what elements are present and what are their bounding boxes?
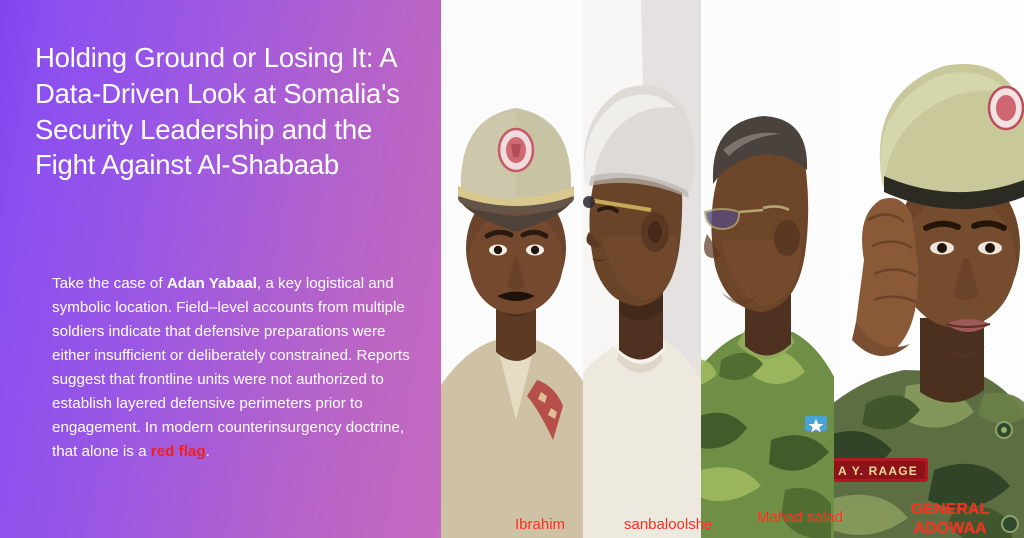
body-text-part-3: . xyxy=(206,443,210,460)
body-text-part-2: , a key logistical and symbolic location… xyxy=(52,275,410,460)
body-bold-location: Adan Yabaal xyxy=(167,275,257,292)
portrait-officer-peaked-cap xyxy=(441,0,583,538)
slide-canvas: Holding Ground or Losing It: A Data-Driv… xyxy=(0,0,1024,538)
photo-panel-ibrahim[interactable] xyxy=(441,0,583,538)
photo-caption-ibrahim: Ibrahim xyxy=(515,516,565,534)
photo-caption-mahad-salad: Mahad salad xyxy=(757,509,843,527)
photo-panel-sanbaloolshe[interactable] xyxy=(583,0,701,538)
uniform-name-tape: A Y. RAAGE xyxy=(838,464,918,478)
photo-panel-general-adowaa[interactable]: A Y. RAAGE xyxy=(834,0,1024,538)
photo-caption-sanbaloolshe: sanbaloolshe xyxy=(624,516,712,534)
photo-panel-mahad-salad[interactable] xyxy=(701,0,834,538)
photo-caption-general-adowaa: GENERAL ADOWAA xyxy=(911,501,989,538)
portrait-soldier-saluting-beret: A Y. RAAGE xyxy=(834,0,1024,538)
page-title: Holding Ground or Losing It: A Data-Driv… xyxy=(35,40,427,183)
red-flag-highlight: red flag xyxy=(151,443,206,460)
caption-line-1: GENERAL xyxy=(911,501,989,518)
caption-line-2: ADOWAA xyxy=(911,520,989,538)
body-paragraph: Take the case of Adan Yabaal, a key logi… xyxy=(52,272,418,464)
photo-strip: A Y. RAAGE xyxy=(441,0,1024,538)
portrait-man-glasses-camouflage xyxy=(701,0,834,538)
portrait-man-white-cap-profile xyxy=(583,0,701,538)
body-text-part-1: Take the case of xyxy=(52,275,167,292)
